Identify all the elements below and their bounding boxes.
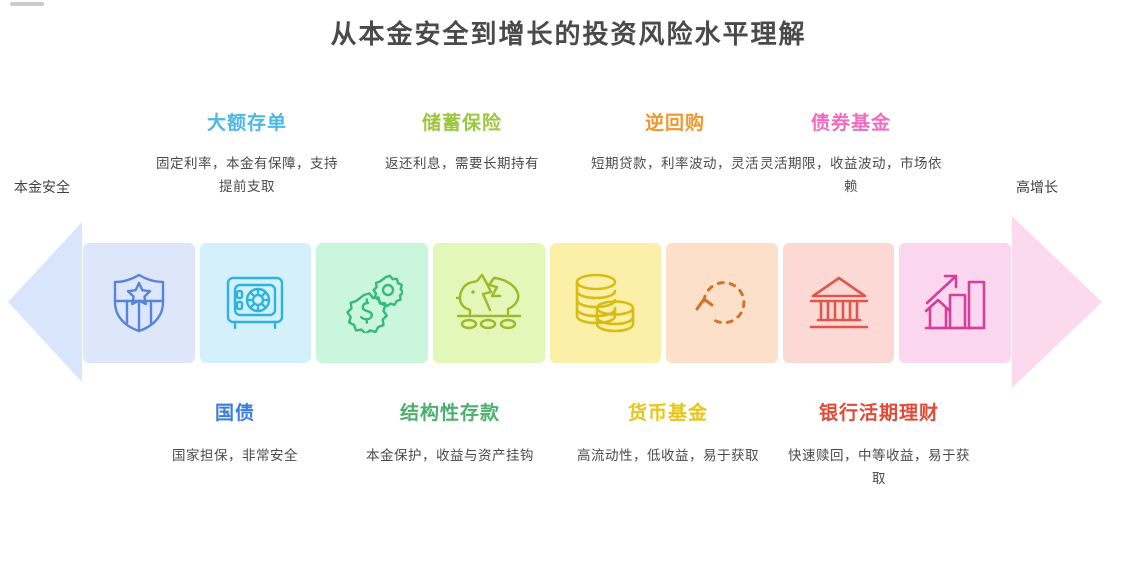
callout-desc: 灵活期限，收益波动，市场依赖 bbox=[756, 152, 946, 199]
axis-right-label: 高增长 bbox=[1016, 177, 1058, 197]
callout-desc: 返还利息，需要长期持有 bbox=[367, 152, 557, 176]
infographic-canvas: 从本金安全到增长的投资风险水平理解 本金安全 高增长 bbox=[0, 0, 1137, 570]
tile-coin-stack[interactable] bbox=[550, 243, 662, 363]
callout-top-3: 债券基金 灵活期限，收益波动，市场依赖 bbox=[756, 112, 946, 199]
page-title: 从本金安全到增长的投资风险水平理解 bbox=[0, 14, 1137, 51]
callout-desc: 短期贷款，利率波动，灵活 bbox=[580, 152, 770, 176]
callout-title: 逆回购 bbox=[580, 112, 770, 136]
callout-bottom-1: 结构性存款 本金保护，收益与资产挂钩 bbox=[355, 402, 545, 467]
growth-bar-chart-icon bbox=[924, 273, 986, 333]
callout-title: 国债 bbox=[140, 402, 330, 426]
dashed-circular-arrow-icon bbox=[692, 273, 752, 333]
callout-title: 大额存单 bbox=[152, 112, 342, 136]
callout-top-1: 储蓄保险 返还利息，需要长期持有 bbox=[367, 112, 557, 175]
axis-left-label: 本金安全 bbox=[14, 177, 70, 197]
tile-dashed-circular-arrow[interactable] bbox=[666, 243, 778, 363]
callout-desc: 高流动性，低收益，易于获取 bbox=[573, 444, 763, 468]
callout-top-2: 逆回购 短期贷款，利率波动，灵活 bbox=[580, 112, 770, 175]
callout-bottom-3: 银行活期理财 快速赎回，中等收益，易于获取 bbox=[784, 402, 974, 491]
tile-bank-building[interactable] bbox=[783, 243, 895, 363]
callout-desc: 快速赎回，中等收益，易于获取 bbox=[784, 444, 974, 491]
broken-piggy-bank-icon bbox=[456, 272, 522, 334]
coin-stack-icon bbox=[573, 272, 637, 334]
safe-vault-icon bbox=[224, 272, 286, 334]
callout-title: 货币基金 bbox=[573, 402, 763, 426]
tile-safe-vault[interactable] bbox=[200, 243, 312, 363]
callout-desc: 国家担保，非常安全 bbox=[140, 444, 330, 468]
callout-bottom-2: 货币基金 高流动性，低收益，易于获取 bbox=[573, 402, 763, 467]
tile-gears-dollar[interactable] bbox=[316, 243, 428, 363]
bank-building-icon bbox=[808, 275, 870, 331]
triangle-left-icon bbox=[8, 222, 82, 382]
callout-bottom-0: 国债 国家担保，非常安全 bbox=[140, 402, 330, 467]
scrollbar-nub bbox=[10, 2, 44, 6]
risk-spectrum-strip bbox=[83, 243, 1011, 363]
shield-star-icon bbox=[109, 272, 169, 334]
triangle-right-icon bbox=[1012, 216, 1102, 388]
callout-title: 银行活期理财 bbox=[784, 402, 974, 426]
callout-top-0: 大额存单 固定利率，本金有保障，支持提前支取 bbox=[152, 112, 342, 199]
callout-desc: 固定利率，本金有保障，支持提前支取 bbox=[152, 152, 342, 199]
tile-shield-star[interactable] bbox=[83, 243, 195, 363]
callout-title: 结构性存款 bbox=[355, 402, 545, 426]
callout-title: 储蓄保险 bbox=[367, 112, 557, 136]
gears-dollar-icon bbox=[341, 273, 403, 333]
callout-desc: 本金保护，收益与资产挂钩 bbox=[355, 444, 545, 468]
tile-broken-piggy-bank[interactable] bbox=[433, 243, 545, 363]
tile-growth-bar-chart[interactable] bbox=[899, 243, 1011, 363]
callout-title: 债券基金 bbox=[756, 112, 946, 136]
